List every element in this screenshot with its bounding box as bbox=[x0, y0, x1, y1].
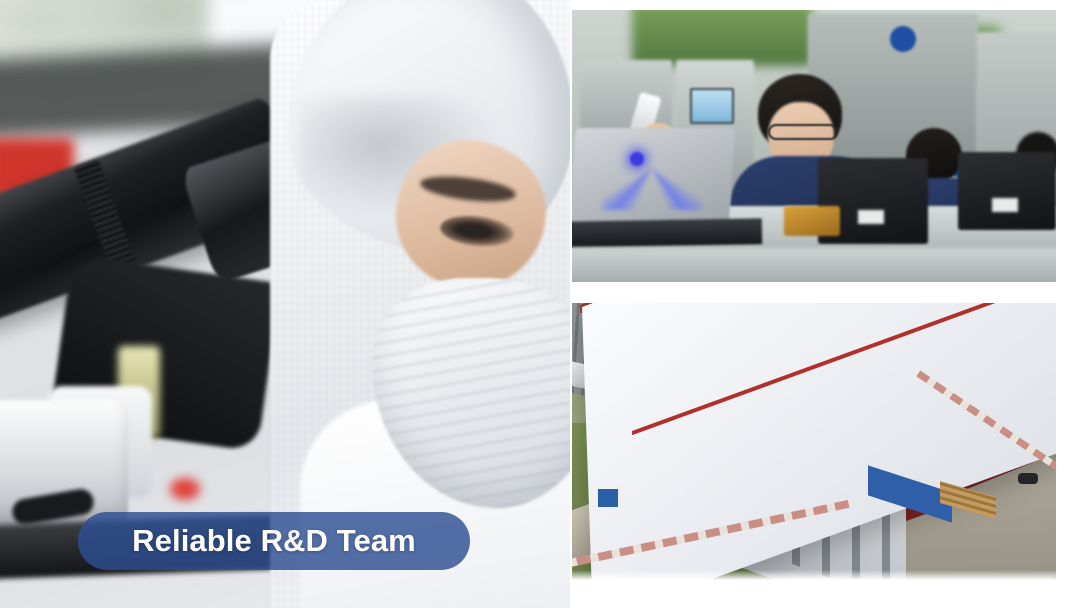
parked-car bbox=[1018, 473, 1038, 484]
monitor-asset-label bbox=[858, 210, 884, 224]
window-foliage-left bbox=[632, 10, 812, 66]
technician-face bbox=[396, 140, 546, 288]
chamber-control-screen bbox=[690, 88, 734, 124]
waveform-technology-photo bbox=[572, 10, 1056, 282]
laptop-logo-glow bbox=[602, 168, 702, 210]
circuit-board-sample bbox=[784, 206, 840, 236]
laptop-logo-icon bbox=[630, 152, 644, 166]
label-line-1: Reliable R&D Team bbox=[132, 523, 416, 559]
gate-kiosk bbox=[598, 489, 618, 507]
panel-production-capacity[interactable]: Strong Production Capacity bbox=[572, 303, 1056, 580]
engineer-a-glasses bbox=[768, 124, 838, 140]
background-red-indicator bbox=[170, 478, 200, 500]
collage-stage: Reliable R&D Team bbox=[0, 0, 1080, 608]
monitor-asset-label-2 bbox=[992, 198, 1018, 212]
label-reliable-rd-team[interactable]: Reliable R&D Team bbox=[78, 512, 470, 570]
laptop-keyboard-base bbox=[572, 218, 762, 247]
production-capacity-photo bbox=[572, 303, 1056, 580]
blue-safety-sign-1 bbox=[890, 26, 916, 52]
panel-waveform-technology[interactable]: Advanced Waveform Technology bbox=[572, 10, 1056, 282]
panel-rd-team[interactable]: Reliable R&D Team bbox=[0, 0, 570, 608]
monitor-right bbox=[958, 152, 1056, 230]
lab-bench-lower bbox=[572, 248, 1056, 282]
panel-bottom-fade bbox=[572, 570, 1056, 580]
